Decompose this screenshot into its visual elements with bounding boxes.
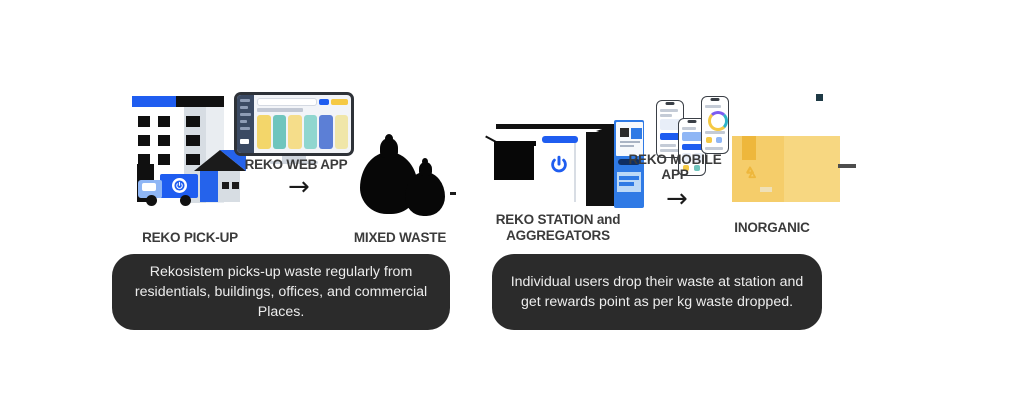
cardboard-box-icon [730, 132, 840, 214]
source-label-reko-station: REKO STATION and AGGREGATORS [480, 212, 636, 244]
result-label-mixed-waste: MIXED WASTE [330, 230, 470, 246]
power-icon [172, 178, 187, 193]
description-box-pickup: Rekosistem picks-up waste regularly from… [112, 254, 450, 330]
channel-label-mobile-app: REKO MOBILE APP [620, 152, 730, 182]
power-icon [548, 154, 570, 176]
flow-panel-pickup: REKO WEB APP → REKO PICK-UP MIXED WASTE [100, 0, 470, 405]
flow-panel-station: REKO MOBILE APP → REKO STATION and AGGRE… [480, 0, 860, 405]
flow-arrow-pickup: → [288, 174, 310, 200]
flow-arrow-station: → [666, 186, 688, 212]
recycle-icon [740, 164, 760, 184]
trash-bags-icon [358, 134, 458, 220]
source-label-reko-pickup: REKO PICK-UP [110, 230, 270, 246]
infographic-canvas: REKO WEB APP → REKO PICK-UP MIXED WASTE … [0, 0, 1024, 405]
channel-label-web-app: REKO WEB APP [240, 157, 352, 172]
building-truck-icon [116, 90, 248, 220]
result-label-inorganic: INORGANIC [702, 220, 842, 236]
description-box-station: Individual users drop their waste at sta… [492, 254, 822, 330]
